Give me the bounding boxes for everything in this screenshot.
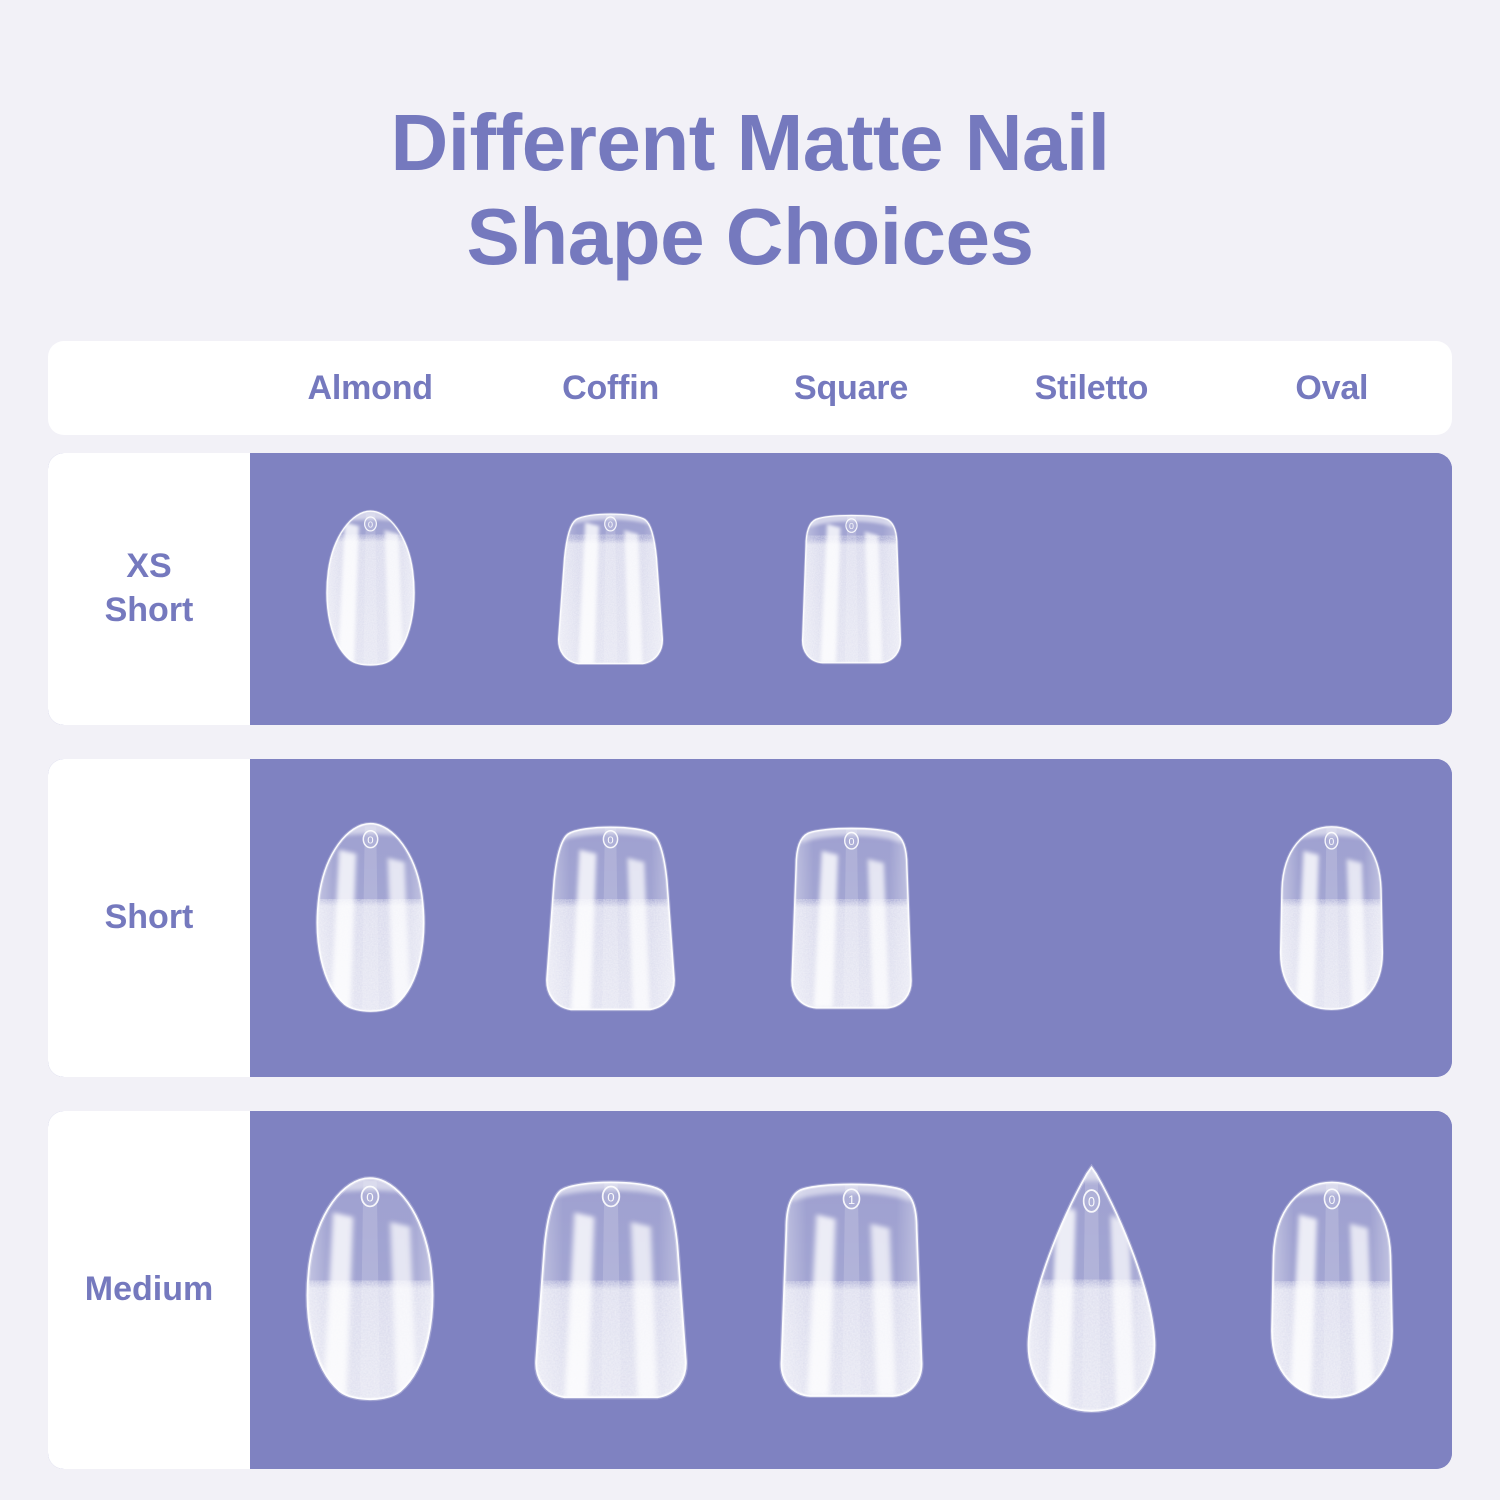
row-label: Short (105, 896, 194, 940)
svg-text:1: 1 (847, 1193, 854, 1207)
nail-tip[interactable]: 0 (312, 509, 429, 669)
svg-text:0: 0 (367, 835, 373, 846)
cell-square-xs[interactable]: 0 (731, 453, 971, 725)
column-header-stiletto: Stiletto (971, 341, 1211, 435)
nail-tip[interactable]: 0 (286, 1175, 454, 1405)
column-header-almond: Almond (250, 341, 490, 435)
nail-tip[interactable]: 0 (784, 823, 919, 1013)
cell-coffin-medium[interactable]: 0 (490, 1111, 730, 1469)
cell-square-medium[interactable]: 1 (731, 1111, 971, 1469)
cell-almond-medium[interactable]: 0 (250, 1111, 490, 1469)
cell-coffin-xs[interactable]: 0 (490, 453, 730, 725)
cell-oval-medium[interactable]: 0 (1212, 1111, 1452, 1469)
cell-almond-xs[interactable]: 0 (250, 453, 490, 725)
nail-tip[interactable]: 0 (1268, 823, 1395, 1013)
cell-almond-short[interactable]: 0 (250, 759, 490, 1077)
svg-text:0: 0 (607, 1190, 614, 1204)
cell-square-short[interactable]: 0 (731, 759, 971, 1077)
nail-almond-medium[interactable]: 0 (286, 1175, 454, 1405)
svg-text:0: 0 (1328, 1193, 1335, 1207)
cell-oval-xs (1212, 453, 1452, 725)
svg-text:0: 0 (608, 520, 613, 530)
nail-tip[interactable]: 0 (299, 821, 442, 1016)
nail-tip[interactable]: 0 (1257, 1178, 1407, 1402)
row-label-cell: Short (48, 759, 250, 1077)
size-row-xs-short: XS Short000 (48, 453, 1452, 725)
nail-tip[interactable]: 0 (528, 1175, 694, 1405)
row-label-cell: Medium (48, 1111, 250, 1469)
table-header-row: AlmondCoffinSquareStilettoOval (250, 341, 1452, 435)
row-nail-swatches: 000 (250, 453, 1452, 725)
nail-coffin-short[interactable]: 0 (540, 821, 681, 1016)
cell-stiletto-medium[interactable]: 0 (971, 1111, 1211, 1469)
nail-oval-medium[interactable]: 0 (1257, 1178, 1407, 1402)
column-header-oval: Oval (1212, 341, 1452, 435)
svg-text:0: 0 (368, 520, 373, 530)
nail-square-medium[interactable]: 1 (772, 1178, 931, 1402)
row-label-cell: XS Short (48, 453, 250, 725)
page-title-line-2: Shape Choices (0, 190, 1500, 284)
cell-stiletto-xs (971, 453, 1211, 725)
svg-text:0: 0 (1329, 837, 1335, 848)
table-header-bar: AlmondCoffinSquareStilettoOval (48, 341, 1452, 435)
nail-tip[interactable]: 0 (796, 511, 907, 667)
cell-stiletto-short (971, 759, 1211, 1077)
nail-square-xs[interactable]: 0 (796, 511, 907, 667)
nail-almond-short[interactable]: 0 (299, 821, 442, 1016)
nail-shape-size-table: AlmondCoffinSquareStilettoOval XS Short0… (48, 341, 1452, 1469)
page-title: Different Matte Nail Shape Choices (0, 96, 1500, 285)
svg-text:0: 0 (1088, 1194, 1095, 1209)
nail-stiletto-medium[interactable]: 0 (1013, 1164, 1170, 1416)
svg-text:0: 0 (848, 837, 854, 848)
nail-coffin-xs[interactable]: 0 (553, 509, 668, 669)
svg-text:0: 0 (366, 1190, 373, 1204)
size-row-short: Short0000 (48, 759, 1452, 1077)
cell-oval-short[interactable]: 0 (1212, 759, 1452, 1077)
nail-oval-short[interactable]: 0 (1268, 823, 1395, 1013)
size-row-medium: Medium00100 (48, 1111, 1452, 1469)
column-header-square: Square (731, 341, 971, 435)
nail-coffin-medium[interactable]: 0 (528, 1175, 694, 1405)
nail-tip[interactable]: 0 (1013, 1164, 1170, 1416)
table-body: XS Short000Short0000Medium00100 (48, 453, 1452, 1469)
svg-text:0: 0 (607, 834, 613, 846)
svg-text:0: 0 (849, 521, 854, 531)
nail-tip[interactable]: 1 (772, 1178, 931, 1402)
cell-coffin-short[interactable]: 0 (490, 759, 730, 1077)
nail-almond-xs[interactable]: 0 (312, 509, 429, 669)
row-nail-swatches: 0000 (250, 759, 1452, 1077)
row-nail-swatches: 00100 (250, 1111, 1452, 1469)
row-label: XS Short (105, 545, 194, 632)
column-header-coffin: Coffin (490, 341, 730, 435)
nail-tip[interactable]: 0 (553, 509, 668, 669)
nail-square-short[interactable]: 0 (784, 823, 919, 1013)
nail-tip[interactable]: 0 (540, 821, 681, 1016)
page-title-line-1: Different Matte Nail (0, 96, 1500, 190)
row-label: Medium (85, 1268, 213, 1312)
